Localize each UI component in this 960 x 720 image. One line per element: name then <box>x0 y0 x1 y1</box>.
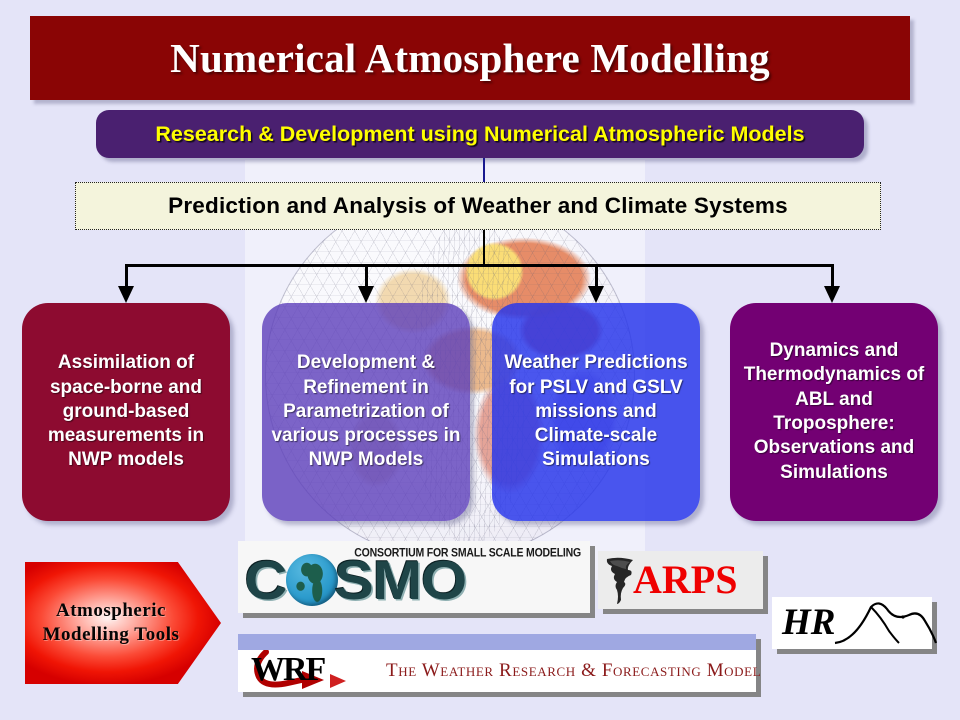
logo-arps[interactable]: ARPS <box>598 551 763 609</box>
logo-wrf[interactable]: WRF The Weather Research & Forecasting M… <box>238 634 756 692</box>
objective-strip: Prediction and Analysis of Weather and C… <box>75 182 881 230</box>
logo-cosmo[interactable]: CONSORTIUM FOR SMALL SCALE MODELING C SM… <box>238 541 590 613</box>
arrow-down-icon-4 <box>824 286 840 303</box>
topic-box-predictions[interactable]: Weather Predictions for PSLV and GSLV mi… <box>492 303 700 521</box>
connector-drop-3 <box>595 264 598 288</box>
subtitle-banner-label: Research & Development using Numerical A… <box>155 122 804 147</box>
topic-box-label: Assimilation of space-borne and ground-b… <box>29 351 223 473</box>
connector-drop-1 <box>125 264 128 288</box>
connector-banner-to-strip <box>483 158 485 184</box>
connector-horizontal-bus <box>125 264 833 267</box>
topic-box-dynamics[interactable]: Dynamics and Thermodynamics of ABL and T… <box>730 303 938 521</box>
mountain-curve-icon <box>833 597 938 650</box>
wrf-top-band <box>238 634 756 650</box>
logo-hr[interactable]: HR <box>772 597 932 649</box>
slide-canvas: Numerical Atmosphere Modelling Research … <box>0 0 960 720</box>
tornado-icon <box>603 555 637 605</box>
cosmo-letter-c: C <box>244 554 286 606</box>
objective-strip-label: Prediction and Analysis of Weather and C… <box>168 193 788 219</box>
topic-box-parametrization[interactable]: Development & Refinement in Parametrizat… <box>262 303 470 521</box>
topic-box-label: Dynamics and Thermodynamics of ABL and T… <box>737 339 931 485</box>
chevron-label: Atmospheric Modelling Tools <box>25 599 197 646</box>
topic-box-label: Weather Predictions for PSLV and GSLV mi… <box>499 351 693 473</box>
connector-drop-2 <box>365 264 368 288</box>
globe-icon <box>286 554 338 606</box>
cosmo-wordmark: C SMO <box>246 554 461 606</box>
topic-box-label: Development & Refinement in Parametrizat… <box>269 351 463 473</box>
cosmo-letters-smo: SMO <box>334 554 466 606</box>
wrf-mark: WRF <box>246 650 376 692</box>
wrf-tagline: The Weather Research & Forecasting Model <box>386 660 761 682</box>
hr-wordmark: HR <box>782 604 835 642</box>
arrow-down-icon-1 <box>118 286 134 303</box>
title-bar: Numerical Atmosphere Modelling <box>30 16 910 100</box>
connector-strip-stem <box>483 230 485 266</box>
subtitle-banner: Research & Development using Numerical A… <box>96 110 864 158</box>
atmospheric-modelling-tools-chevron[interactable]: Atmospheric Modelling Tools <box>25 562 221 684</box>
page-title: Numerical Atmosphere Modelling <box>170 34 770 82</box>
arrow-down-icon-3 <box>588 286 604 303</box>
connector-drop-4 <box>831 264 834 288</box>
arps-wordmark: ARPS <box>633 559 737 601</box>
topic-box-assimilation[interactable]: Assimilation of space-borne and ground-b… <box>22 303 230 521</box>
wrf-wordmark: WRF <box>251 652 324 688</box>
arrow-down-icon-2 <box>358 286 374 303</box>
